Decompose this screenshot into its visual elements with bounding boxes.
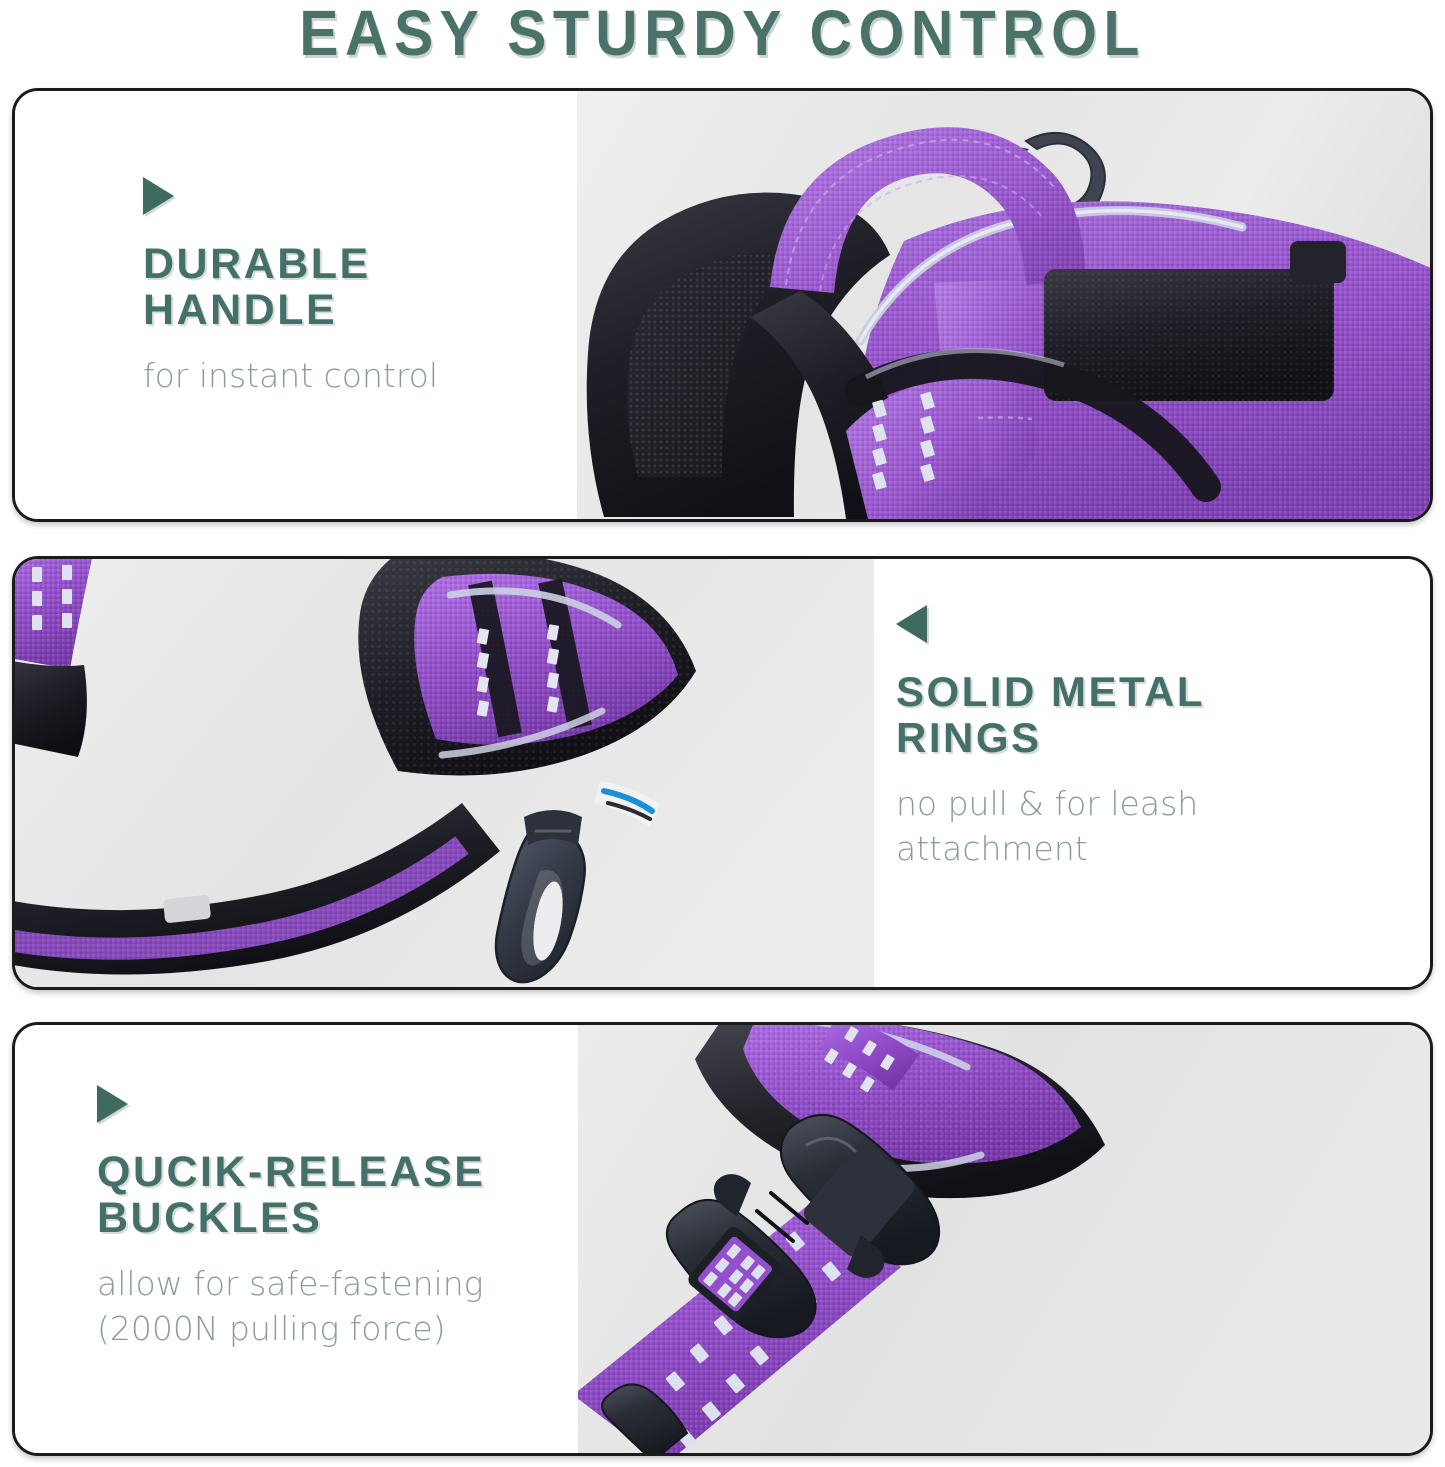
triangle-right-icon: [97, 1085, 128, 1123]
panel-3-product-photo: [578, 1025, 1430, 1453]
panel-3-text-side: QUCIK-RELEASE BUCKLES allow for safe-fas…: [15, 1025, 578, 1453]
panel-2-text-side: SOLID METAL RINGS no pull & for leash at…: [874, 559, 1430, 987]
panel-1-title: DURABLE HANDLE: [143, 241, 577, 333]
panel-1-subtitle: for instant control: [143, 353, 577, 398]
panel-1-product-photo: [577, 91, 1430, 519]
triangle-left-icon: [896, 605, 927, 643]
panel-1-text-side: DURABLE HANDLE for instant control: [15, 91, 577, 519]
page-title: EASY STURDY CONTROL: [58, 0, 1387, 72]
feature-panel-durable-handle: DURABLE HANDLE for instant control: [12, 88, 1433, 522]
triangle-right-icon: [143, 177, 174, 215]
panel-2-product-photo: [15, 559, 874, 987]
panel-2-subtitle: no pull & for leash attachment: [896, 781, 1430, 871]
feature-panel-quick-release-buckles: QUCIK-RELEASE BUCKLES allow for safe-fas…: [12, 1022, 1433, 1456]
feature-panel-solid-metal-rings: SOLID METAL RINGS no pull & for leash at…: [12, 556, 1433, 990]
panel-2-title: SOLID METAL RINGS: [896, 669, 1430, 761]
panel-3-subtitle: allow for safe-fastening (2000N pulling …: [97, 1261, 578, 1351]
panel-3-title: QUCIK-RELEASE BUCKLES: [97, 1149, 578, 1241]
